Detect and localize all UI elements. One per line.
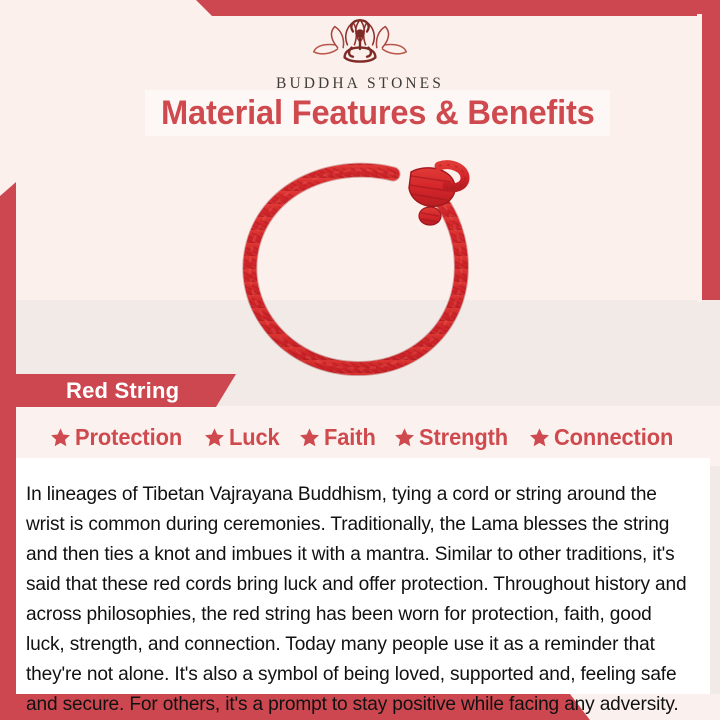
brand-logo: BUDDHA STONES xyxy=(0,14,720,93)
benefit-item-connection: Connection xyxy=(529,424,680,451)
star-icon xyxy=(50,427,71,448)
benefit-item-luck: Luck xyxy=(204,424,282,451)
benefits-list: Protection Luck Faith xyxy=(50,420,680,454)
benefit-item-strength: Strength xyxy=(394,424,513,451)
star-icon xyxy=(204,427,225,448)
page-title-band: Material Features & Benefits xyxy=(145,90,610,136)
benefit-label: Strength xyxy=(419,424,508,451)
star-icon xyxy=(299,427,320,448)
star-icon xyxy=(394,427,415,448)
description-card: In lineages of Tibetan Vajrayana Buddhis… xyxy=(16,458,710,694)
product-image-red-braided-string-bracelet xyxy=(225,152,505,382)
benefit-label: Luck xyxy=(229,424,280,451)
lotus-meditation-icon xyxy=(304,14,416,70)
benefit-label: Connection xyxy=(554,424,673,451)
star-icon xyxy=(529,427,550,448)
decorative-left-bar xyxy=(0,182,16,720)
poster-canvas: BUDDHA STONES Material Features & Benefi… xyxy=(0,0,720,720)
page-title: Material Features & Benefits xyxy=(161,94,595,133)
product-name-ribbon: Red String xyxy=(16,374,236,407)
benefit-item-protection: Protection xyxy=(50,424,188,451)
product-name-label: Red String xyxy=(66,378,179,404)
benefit-label: Faith xyxy=(324,424,376,451)
benefit-item-faith: Faith xyxy=(299,424,378,451)
benefit-label: Protection xyxy=(75,424,182,451)
description-paragraph: In lineages of Tibetan Vajrayana Buddhis… xyxy=(26,479,692,719)
